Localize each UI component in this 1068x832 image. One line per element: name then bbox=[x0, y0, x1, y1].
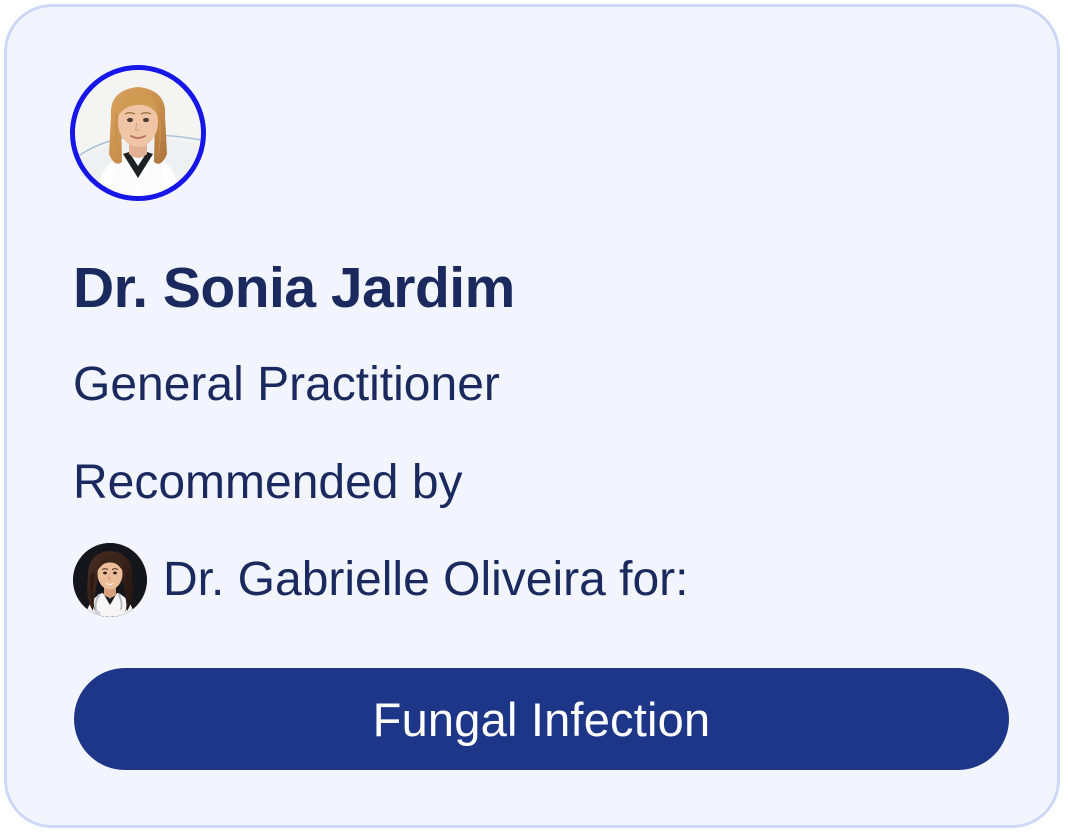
condition-button[interactable]: Fungal Infection bbox=[74, 668, 1009, 770]
doctor-name: Dr. Sonia Jardim bbox=[73, 257, 515, 320]
referrer-row: Dr. Gabrielle Oliveira for: bbox=[73, 543, 689, 617]
doctor-specialty: General Practitioner bbox=[73, 359, 500, 412]
recommended-by-label: Recommended by bbox=[73, 457, 463, 510]
page-root: Dr. Sonia Jardim General Practitioner Re… bbox=[0, 0, 1068, 832]
doctor-avatar-photo bbox=[75, 70, 201, 196]
doctor-recommendation-card: Dr. Sonia Jardim General Practitioner Re… bbox=[4, 4, 1060, 828]
referrer-name: Dr. Gabrielle Oliveira for: bbox=[163, 554, 689, 607]
doctor-avatar[interactable] bbox=[70, 65, 206, 201]
referrer-avatar[interactable] bbox=[73, 543, 147, 617]
